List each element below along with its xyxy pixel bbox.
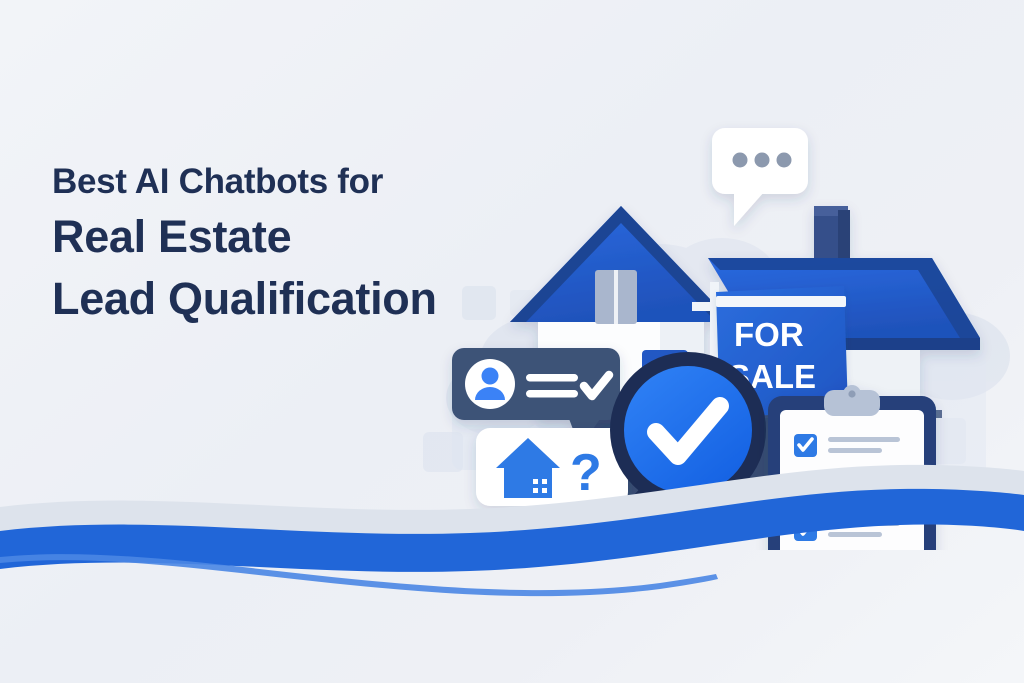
bubble-tail <box>734 190 764 226</box>
info-line <box>526 390 578 398</box>
typing-dot <box>755 153 770 168</box>
decorative-waves <box>0 423 1024 683</box>
for-sale-line-1: FOR <box>734 316 804 353</box>
headline-line-1: Best AI Chatbots for <box>52 158 522 206</box>
typing-dot <box>733 153 748 168</box>
avatar <box>465 359 515 409</box>
typing-dot <box>777 153 792 168</box>
house-upper-window <box>595 270 637 324</box>
page-title: Best AI Chatbots for Real Estate Lead Qu… <box>52 158 522 330</box>
headline-line-3: Lead Qualification <box>52 268 522 330</box>
hero-banner: Best AI Chatbots for Real Estate Lead Qu… <box>0 0 1024 683</box>
sign-header-bar <box>716 296 846 307</box>
avatar-head <box>482 368 499 385</box>
typing-indicator-bubble[interactable] <box>712 128 808 226</box>
headline-line-2: Real Estate <box>52 206 522 268</box>
info-line <box>526 374 578 382</box>
